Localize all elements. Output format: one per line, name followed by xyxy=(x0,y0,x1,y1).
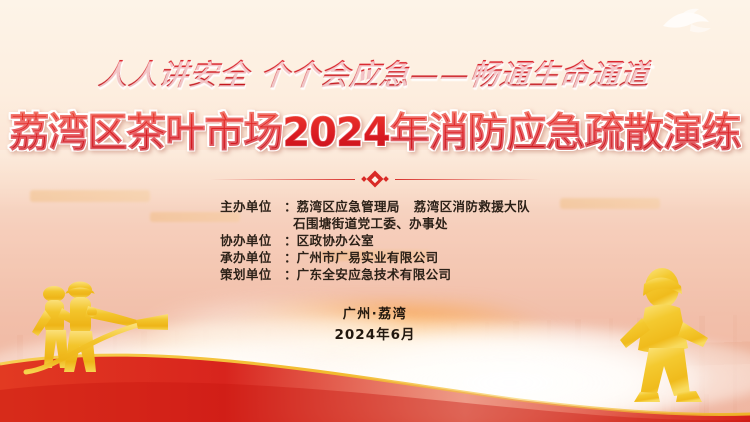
organization-colon: ： xyxy=(284,198,297,215)
poster: 人人讲安全 个个会应急——畅通生命通道 荔湾区茶叶市场2024年消防应急疏散演练… xyxy=(0,0,750,422)
ornament-dot xyxy=(383,176,389,182)
divider-line-left xyxy=(210,179,355,180)
organization-colon: ： xyxy=(284,249,297,266)
ornament-diamond-inner xyxy=(371,175,378,182)
organization-label: 策划单位 xyxy=(220,266,284,283)
organization-value: 广东全安应急技术有限公司 xyxy=(297,266,452,283)
organization-label: 协办单位 xyxy=(220,232,284,249)
organization-row: 协办单位 ： 区政协办公室 xyxy=(220,232,530,249)
diamond-ornament-icon xyxy=(355,173,395,185)
organization-value-secondary: 荔湾区消防救援大队 xyxy=(414,199,530,214)
divider-ornament xyxy=(210,172,540,186)
poster-subtitle: 人人讲安全 个个会应急——畅通生命通道 xyxy=(97,52,653,94)
organization-colon: ： xyxy=(284,232,297,249)
organization-row: 策划单位 ： 广东全安应急技术有限公司 xyxy=(220,266,530,283)
organization-value: 区政协办公室 xyxy=(297,232,374,249)
organization-label: 承办单位 xyxy=(220,249,284,266)
poster-content: 人人讲安全 个个会应急——畅通生命通道 荔湾区茶叶市场2024年消防应急疏散演练… xyxy=(0,0,750,422)
footer-location: 广州·荔湾 xyxy=(335,305,416,325)
organization-row: 承办单位 ： 广州市广易实业有限公司 xyxy=(220,249,530,266)
organization-row: 主办单位 ： 荔湾区应急管理局荔湾区消防救援大队 xyxy=(220,198,530,215)
organization-value: 广州市广易实业有限公司 xyxy=(297,249,439,266)
footer-date: 2024年6月 xyxy=(335,325,416,345)
organization-value: 荔湾区应急管理局荔湾区消防救援大队 xyxy=(297,198,530,215)
ornament-diamond xyxy=(367,171,384,188)
organization-value-primary: 荔湾区应急管理局 xyxy=(297,199,400,214)
organization-label: 主办单位 xyxy=(220,198,284,215)
poster-footer: 广州·荔湾 2024年6月 xyxy=(335,305,416,345)
organization-continuation: 石围塘街道党工委、办事处 xyxy=(220,215,530,232)
divider-line-right xyxy=(395,179,540,180)
organizations-block: 主办单位 ： 荔湾区应急管理局荔湾区消防救援大队 石围塘街道党工委、办事处 协办… xyxy=(220,198,530,283)
organization-colon: ： xyxy=(284,266,297,283)
poster-title: 荔湾区茶叶市场2024年消防应急疏散演练 xyxy=(9,100,740,158)
